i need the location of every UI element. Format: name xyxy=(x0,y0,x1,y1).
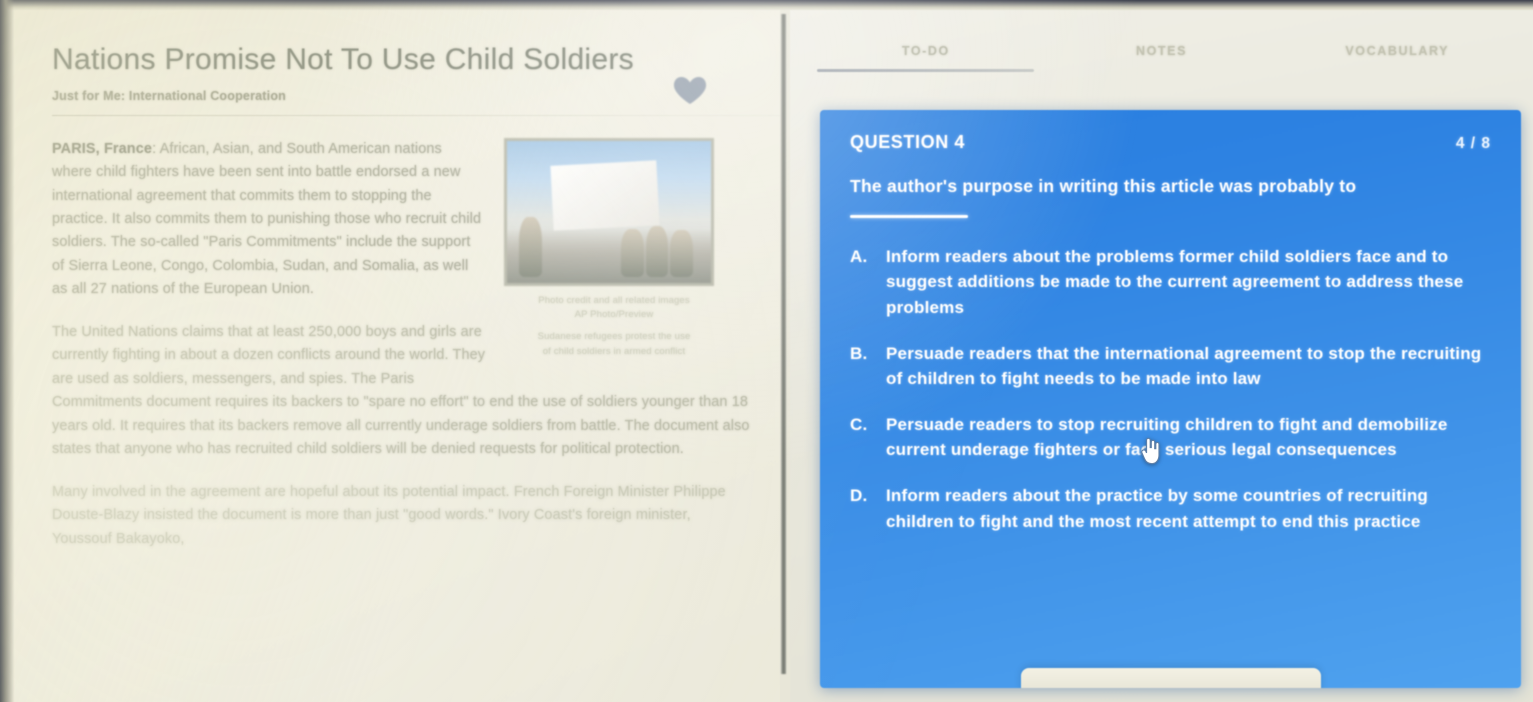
question-card: QUESTION 4 4 / 8 The author's purpose in… xyxy=(820,110,1521,688)
option-text: Inform readers about the practice by som… xyxy=(886,483,1486,533)
heart-icon[interactable] xyxy=(672,72,708,106)
article-title: Nations Promise Not To Use Child Soldier… xyxy=(52,36,672,85)
option-letter: C. xyxy=(850,412,876,462)
tab-label: NOTES xyxy=(1136,44,1187,58)
option-letter: A. xyxy=(850,244,876,319)
tab-label: VOCABULARY xyxy=(1345,44,1449,58)
article-subtitle: Just for Me: International Cooperation xyxy=(52,89,750,103)
option-letter: B. xyxy=(850,341,876,391)
tab-notes[interactable]: NOTES xyxy=(1044,44,1280,72)
article-photo xyxy=(504,138,714,286)
activity-pane: TO-DO NOTES VOCABULARY QUESTION 4 4 / 8 … xyxy=(790,10,1533,702)
article-paragraph: Many involved in the agreement are hopef… xyxy=(52,481,750,551)
article-body: Photo credit and all related images AP P… xyxy=(52,138,750,552)
option-text: Persuade readers that the international … xyxy=(886,341,1486,391)
answer-option-c[interactable]: C. Persuade readers to stop recruiting c… xyxy=(850,412,1491,462)
answer-option-a[interactable]: A. Inform readers about the problems for… xyxy=(850,244,1491,319)
tab-to-do[interactable]: TO-DO xyxy=(808,44,1044,72)
article-caption: Photo credit and all related images AP P… xyxy=(504,294,724,360)
activity-tabs: TO-DO NOTES VOCABULARY xyxy=(790,44,1533,102)
option-text: Persuade readers to stop recruiting chil… xyxy=(886,412,1486,462)
photo-credit-line-2: AP Photo/Preview xyxy=(504,308,724,323)
answer-option-d[interactable]: D. Inform readers about the practice by … xyxy=(850,483,1491,533)
question-label: QUESTION 4 xyxy=(850,132,965,153)
answer-blank xyxy=(850,215,968,218)
photographed-screen: Nations Promise Not To Use Child Soldier… xyxy=(0,0,1533,702)
answer-option-b[interactable]: B. Persuade readers that the internation… xyxy=(850,341,1491,391)
article-paragraph-text: : African, Asian, and South American nat… xyxy=(52,141,481,298)
question-header: QUESTION 4 4 / 8 xyxy=(850,132,1491,153)
photo-credit-line-1: Photo credit and all related images xyxy=(504,294,724,309)
question-prompt: The author's purpose in writing this art… xyxy=(850,173,1491,199)
article-pane: Nations Promise Not To Use Child Soldier… xyxy=(14,10,780,702)
photo-caption-line-2: of child soldiers in armed conflict xyxy=(504,345,724,360)
pane-divider xyxy=(781,14,786,674)
article-figure: Photo credit and all related images AP P… xyxy=(504,138,724,367)
option-text: Inform readers about the problems former… xyxy=(886,244,1486,319)
answer-action-bar[interactable] xyxy=(1021,668,1321,688)
article-paragraph-text: Many involved in the agreement are hopef… xyxy=(52,484,726,547)
answer-options: A. Inform readers about the problems for… xyxy=(850,244,1491,533)
tab-label: TO-DO xyxy=(902,44,950,58)
article-header: Nations Promise Not To Use Child Soldier… xyxy=(52,36,750,116)
header-divider xyxy=(52,115,780,116)
option-letter: D. xyxy=(850,483,876,533)
article-paragraph: PARIS, France: African, Asian, and South… xyxy=(52,138,482,302)
article-dateline: PARIS, France xyxy=(52,141,152,157)
tab-vocabulary[interactable]: VOCABULARY xyxy=(1279,44,1515,72)
question-counter: 4 / 8 xyxy=(1456,135,1491,153)
photo-caption-line-1: Sudanese refugees protest the use xyxy=(504,330,724,345)
